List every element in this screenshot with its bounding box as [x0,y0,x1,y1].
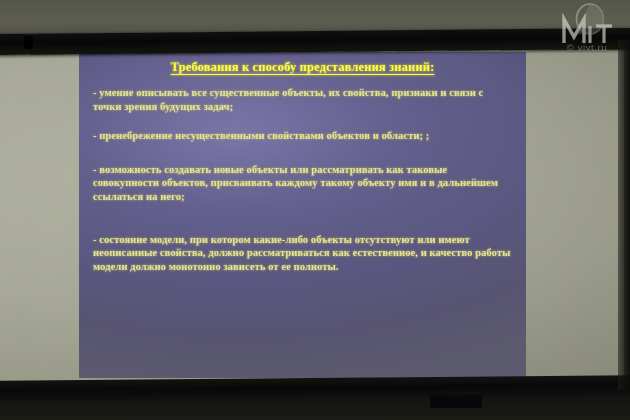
watermark-caption: © vivt.ru [550,43,624,54]
screen-bottom-tab [430,395,482,408]
slide-title: Требования к способу представления знани… [93,60,512,75]
slide-bullet-4: - состояние модели, при котором какие-ли… [93,234,512,275]
photo-canvas: Требования к способу представления знани… [0,0,630,420]
watermark: © vivt.ru [550,2,624,60]
slide-bullet-1: - умение описывать все существенные объе… [93,87,512,114]
screen-frame-right-edge [618,40,630,390]
slide-content: Требования к способу представления знани… [79,52,526,274]
slide-bullet-3: - возможность создавать новые объекты ил… [93,164,512,205]
slide-bullet-2: - пренебрежение несущественными свойства… [93,130,512,144]
projected-slide: Требования к способу представления знани… [79,52,526,378]
vivt-mit-monogram-logo-icon [556,3,618,45]
screen-mount-bracket-icon [24,36,33,49]
